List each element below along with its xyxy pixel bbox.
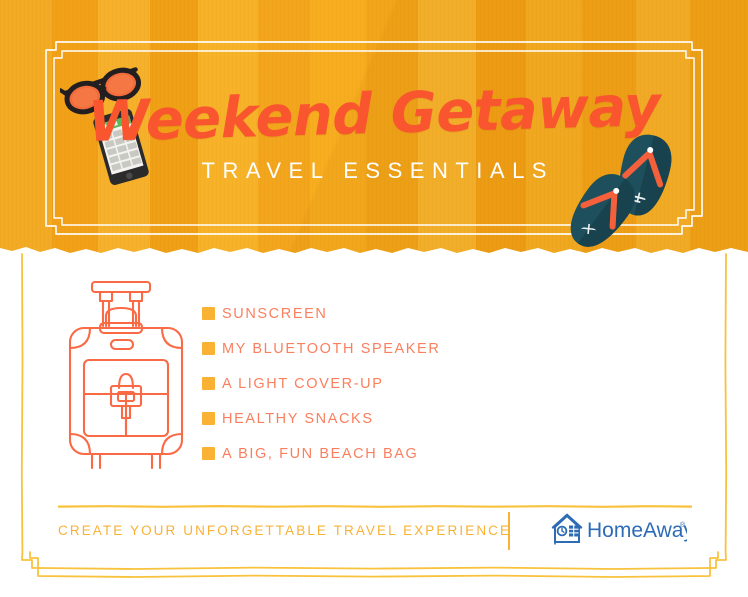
header-banner: Weekend Getaway TRAVEL ESSENTIALS xyxy=(0,0,748,258)
list-item-label: MY BLUETOOTH SPEAKER xyxy=(222,341,440,357)
list-item-label: SUNSCREEN xyxy=(222,306,327,322)
footer-divider-rule xyxy=(58,495,692,498)
suitcase-svg xyxy=(56,278,196,470)
footer-tagline: CREATE YOUR UNFORGETTABLE TRAVEL EXPERIE… xyxy=(58,523,511,538)
checkbox-icon[interactable] xyxy=(202,377,215,390)
list-item[interactable]: MY BLUETOOTH SPEAKER xyxy=(202,331,440,366)
infographic-poster: Weekend Getaway TRAVEL ESSENTIALS xyxy=(0,0,748,597)
list-item-label: A LIGHT COVER-UP xyxy=(222,376,384,392)
footer-vertical-divider xyxy=(508,512,510,550)
flip-flops-svg xyxy=(552,128,698,256)
rule-svg xyxy=(58,505,692,508)
flip-flops-icon xyxy=(552,128,698,256)
list-item[interactable]: A BIG, FUN BEACH BAG xyxy=(202,436,440,471)
checkbox-icon[interactable] xyxy=(202,307,215,320)
logo-wordmark: HomeAway xyxy=(587,519,687,542)
homeaway-logo[interactable]: HomeAway ® xyxy=(551,512,687,546)
suitcase-illustration xyxy=(56,278,196,470)
list-item-label: A BIG, FUN BEACH BAG xyxy=(222,446,418,462)
checkbox-icon[interactable] xyxy=(202,342,215,355)
essentials-checklist: SUNSCREEN MY BLUETOOTH SPEAKER A LIGHT C… xyxy=(202,296,440,471)
list-item[interactable]: HEALTHY SNACKS xyxy=(202,401,440,436)
list-item[interactable]: SUNSCREEN xyxy=(202,296,440,331)
list-item-label: HEALTHY SNACKS xyxy=(222,411,374,427)
checkbox-icon[interactable] xyxy=(202,447,215,460)
list-item[interactable]: A LIGHT COVER-UP xyxy=(202,366,440,401)
homeaway-logo-svg: HomeAway ® xyxy=(551,512,687,546)
house-icon xyxy=(553,515,581,545)
checkbox-icon[interactable] xyxy=(202,412,215,425)
page-subtitle: TRAVEL ESSENTIALS xyxy=(0,158,748,184)
logo-trademark: ® xyxy=(680,521,686,529)
